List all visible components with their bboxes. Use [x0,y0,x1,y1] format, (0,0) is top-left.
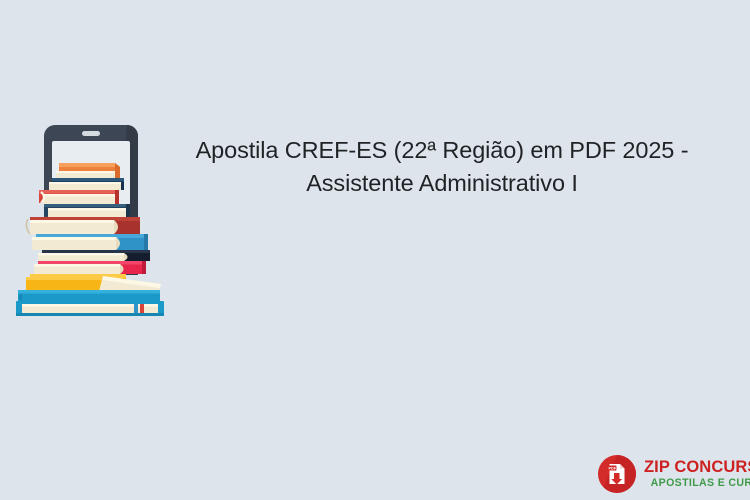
logo-text-group: ZIP CONCURSOS APOSTILAS E CURSOS [644,459,750,489]
book-crimson [34,261,146,274]
book-teal-bottom [16,290,164,316]
logo-primary-text: ZIP CONCURSOS [644,459,750,476]
page-title: Apostila CREF-ES (22ª Região) em PDF 202… [172,134,712,200]
logo-secondary-text: APOSTILAS E CURSOS [644,478,750,489]
book-darkred-large [26,217,140,234]
book-navy-upper [49,178,124,190]
book-orange-top [56,163,120,178]
stack-of-books-illustration [8,108,178,318]
svg-text:PDF: PDF [608,467,616,471]
book-navy-mid [44,204,130,217]
book-blue-large [32,234,148,250]
promo-banner: Apostila CREF-ES (22ª Região) em PDF 202… [0,0,750,500]
brand-logo[interactable]: PDF ZIP CONCURSOS APOSTILAS E CURSOS [597,452,743,496]
title-block: Apostila CREF-ES (22ª Região) em PDF 202… [172,134,712,200]
book-darkslate-thin [38,250,150,261]
pdf-download-icon: PDF [597,454,637,494]
book-red-upper [39,190,119,204]
